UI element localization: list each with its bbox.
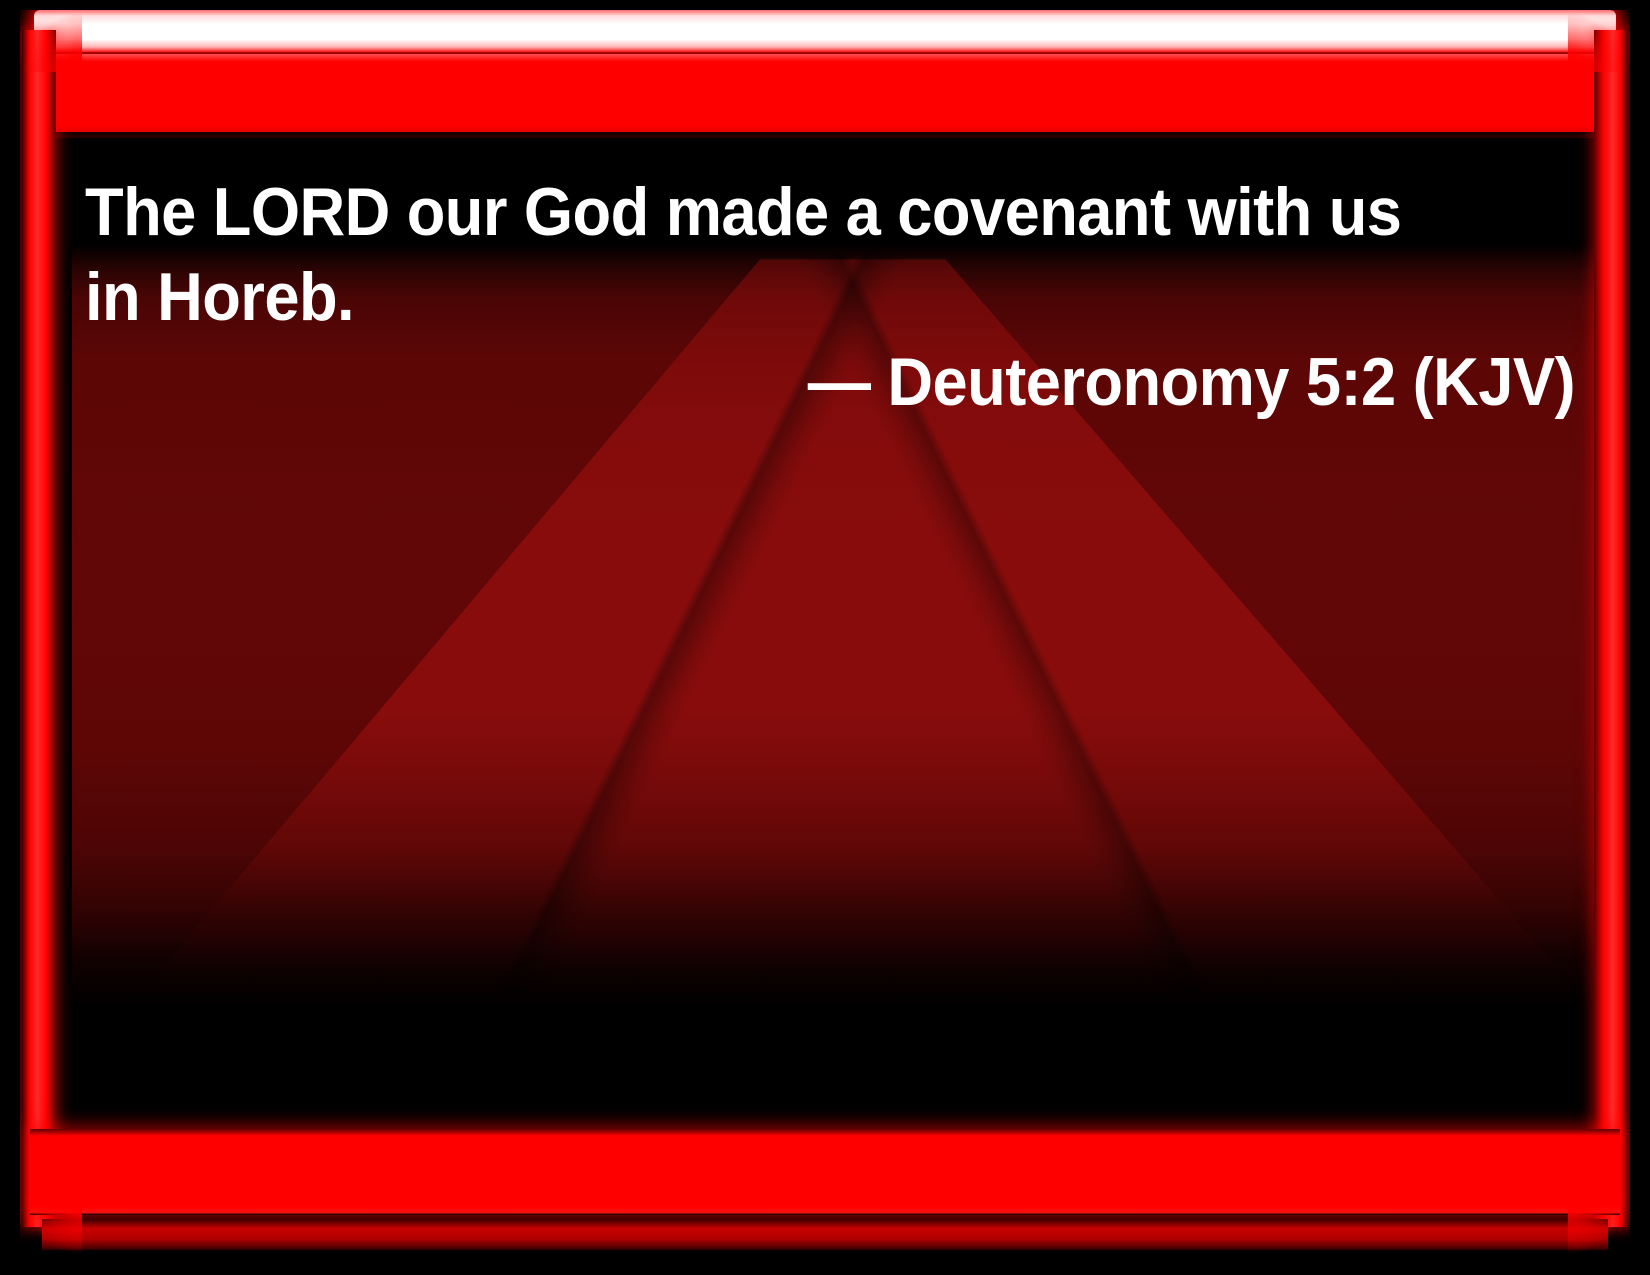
text-layer: The LORD our God made a covenant with us… [20,10,1630,1263]
slide-stage: The LORD our God made a covenant with us… [20,10,1630,1263]
verse-text: The LORD our God made a covenant with us… [85,170,1438,340]
verse-reference: — Deuteronomy 5:2 (KJV) [189,340,1575,425]
scripture-slide: The LORD our God made a covenant with us… [0,0,1650,1275]
